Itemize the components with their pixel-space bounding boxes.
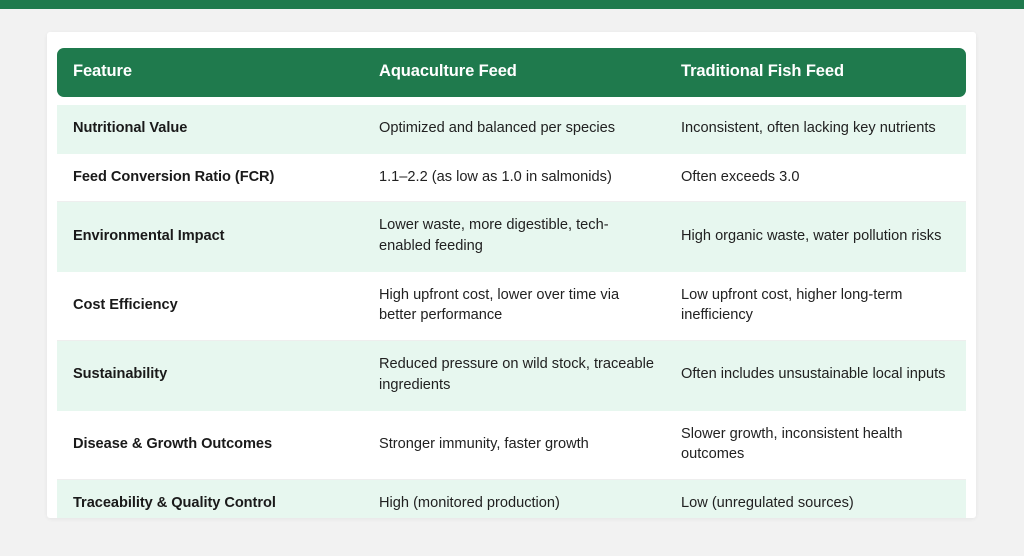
row-feature-label: Disease & Growth Outcomes	[57, 411, 367, 480]
row-feature-label: Cost Efficiency	[57, 272, 367, 341]
table-header: Feature Aquaculture Feed Traditional Fis…	[57, 48, 966, 105]
table-row: Nutritional Value Optimized and balanced…	[57, 105, 966, 154]
row-aquaculture-value: Stronger immunity, faster growth	[367, 411, 669, 480]
row-aquaculture-value: Lower waste, more digestible, tech-enabl…	[367, 202, 669, 271]
table-row: Disease & Growth Outcomes Stronger immun…	[57, 411, 966, 480]
header-spacer-cell	[57, 97, 367, 105]
comparison-card: Feature Aquaculture Feed Traditional Fis…	[47, 32, 976, 518]
column-header-traditional-fish-feed: Traditional Fish Feed	[669, 48, 966, 97]
table-row: Sustainability Reduced pressure on wild …	[57, 341, 966, 410]
column-header-feature: Feature	[57, 48, 367, 97]
row-aquaculture-value: Reduced pressure on wild stock, traceabl…	[367, 341, 669, 410]
column-header-aquaculture-feed: Aquaculture Feed	[367, 48, 669, 97]
row-traditional-value: Inconsistent, often lacking key nutrient…	[669, 105, 966, 154]
row-aquaculture-value: High (monitored production)	[367, 480, 669, 518]
row-traditional-value: Low upfront cost, higher long-term ineff…	[669, 272, 966, 341]
row-traditional-value: Slower growth, inconsistent health outco…	[669, 411, 966, 480]
row-traditional-value: Low (unregulated sources)	[669, 480, 966, 518]
header-spacer-cell	[669, 97, 966, 105]
row-traditional-value: Often exceeds 3.0	[669, 154, 966, 203]
table-row: Traceability & Quality Control High (mon…	[57, 480, 966, 518]
row-feature-label: Traceability & Quality Control	[57, 480, 367, 518]
table-row: Feed Conversion Ratio (FCR) 1.1–2.2 (as …	[57, 154, 966, 203]
header-spacer-row	[57, 97, 966, 105]
row-aquaculture-value: 1.1–2.2 (as low as 1.0 in salmonids)	[367, 154, 669, 203]
row-feature-label: Environmental Impact	[57, 202, 367, 271]
row-feature-label: Nutritional Value	[57, 105, 367, 154]
row-aquaculture-value: Optimized and balanced per species	[367, 105, 669, 154]
table-header-row: Feature Aquaculture Feed Traditional Fis…	[57, 48, 966, 97]
row-traditional-value: High organic waste, water pollution risk…	[669, 202, 966, 271]
table-body: Nutritional Value Optimized and balanced…	[57, 105, 966, 518]
row-aquaculture-value: High upfront cost, lower over time via b…	[367, 272, 669, 341]
row-feature-label: Feed Conversion Ratio (FCR)	[57, 154, 367, 203]
header-spacer-cell	[367, 97, 669, 105]
page-canvas: Feature Aquaculture Feed Traditional Fis…	[0, 9, 1024, 556]
table-row: Cost Efficiency High upfront cost, lower…	[57, 272, 966, 341]
comparison-table: Feature Aquaculture Feed Traditional Fis…	[57, 48, 966, 518]
table-row: Environmental Impact Lower waste, more d…	[57, 202, 966, 271]
row-feature-label: Sustainability	[57, 341, 367, 410]
row-traditional-value: Often includes unsustainable local input…	[669, 341, 966, 410]
top-accent-bar	[0, 0, 1024, 9]
